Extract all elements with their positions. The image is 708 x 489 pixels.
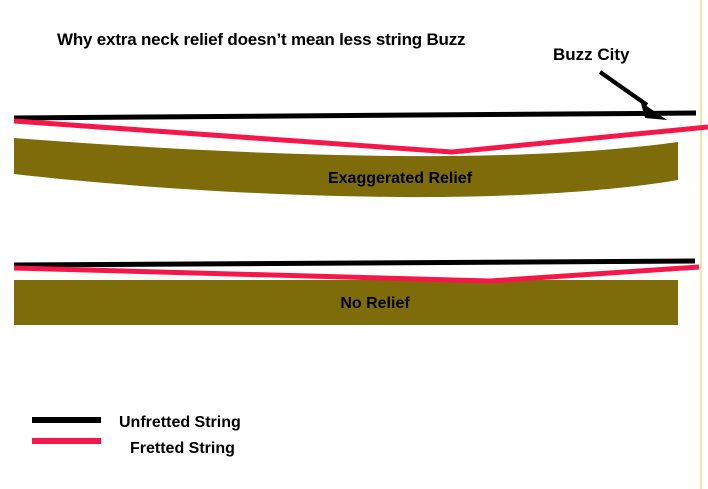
- no-relief-label: No Relief: [340, 295, 410, 312]
- legend-label-fretted: Fretted String: [130, 440, 235, 457]
- buzz-city-label: Buzz City: [553, 45, 630, 64]
- exaggerated-relief-label: Exaggerated Relief: [328, 170, 473, 187]
- page-title: Why extra neck relief doesn’t mean less …: [57, 30, 465, 49]
- diagram-canvas: Why extra neck relief doesn’t mean less …: [0, 0, 708, 489]
- legend-label-unfretted: Unfretted String: [119, 414, 241, 431]
- neck-relief-diagram: Why extra neck relief doesn’t mean less …: [0, 0, 708, 489]
